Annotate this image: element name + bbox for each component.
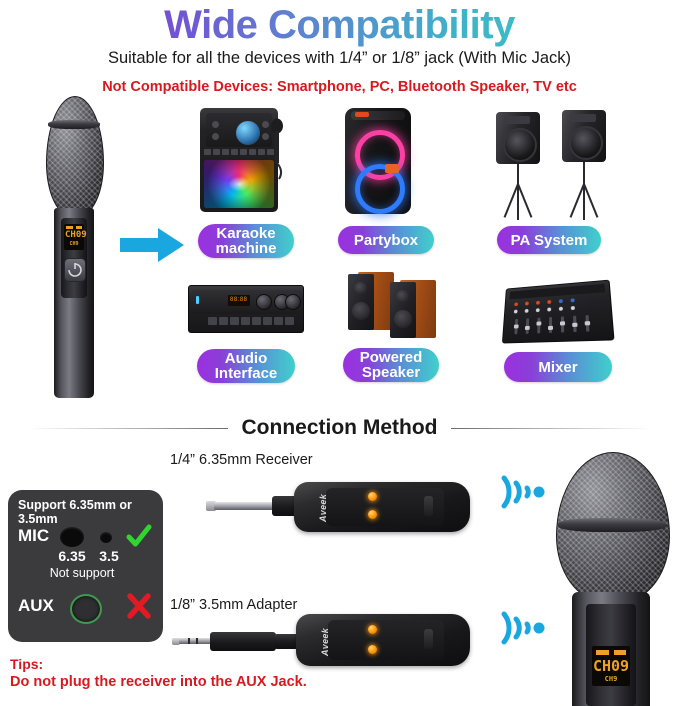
plug-35-ring-2 (196, 638, 198, 644)
lcd-signal-icon (76, 226, 82, 229)
audio-interface-display-text: 88:88 (230, 297, 248, 303)
mic-jack-635-hole (60, 527, 84, 547)
jack-panel-diagram: Support 6.35mm or 3.5mm MIC 6.35 3.5 Not… (8, 490, 163, 642)
partybox-accent (355, 112, 369, 117)
lcd-channel-sub: CH9 (592, 675, 630, 683)
karaoke-light-mask (204, 160, 274, 208)
receiver-side-button[interactable] (424, 629, 433, 649)
jack-mic-label: MIC (18, 526, 49, 546)
compatibility-subtitle: Suitable for all the devices with 1/4” o… (0, 48, 679, 68)
mic-jack-35-hole (100, 532, 112, 543)
lcd-signal-icon (614, 650, 626, 655)
plug-635-shaft (214, 502, 276, 510)
flow-arrow (118, 225, 188, 265)
device-label-pa-system: PA System (497, 226, 601, 254)
jack-size-35-label: 3.5 (94, 548, 124, 564)
lcd-channel-sub: CH9 (65, 241, 83, 247)
wireless-microphone-left: CH09 CH9 (38, 96, 110, 396)
powered-speaker-front-icon (390, 280, 436, 338)
lcd-battery-icon (66, 226, 73, 229)
audio-interface-led (196, 296, 199, 304)
adapter-35-label: 1/8” 3.5mm Adapter (170, 597, 297, 613)
connection-method-header: Connection Method (0, 408, 679, 448)
jack-not-support-text: Not support (32, 566, 132, 580)
jack-support-text: Support 6.35mm or 3.5mm (18, 498, 154, 526)
partybox-logo (385, 164, 399, 173)
mixer-console-icon (502, 280, 615, 344)
device-mixer (494, 278, 614, 344)
device-label-partybox: Partybox (338, 226, 434, 254)
receiver-brand-label: Aveek (318, 494, 328, 522)
lcd-channel-value: CH09 (65, 230, 83, 240)
divider-left (28, 428, 228, 429)
powered-speaker-rear-icon (348, 272, 394, 330)
jack-aux-label: AUX (18, 596, 54, 616)
microphone-band (558, 518, 666, 532)
microphone-grille-icon (46, 96, 104, 216)
karaoke-corded-mic-icon (268, 118, 286, 178)
tips-label: Tips: (10, 656, 43, 672)
plug-35-ring-1 (188, 638, 190, 644)
receiver-635-unit: Aveek (206, 478, 476, 536)
device-label-line2: Interface (215, 366, 278, 381)
aux-jack-hole (70, 594, 102, 624)
device-label-line1: Mixer (538, 360, 577, 375)
device-label-line1: PA System (511, 233, 588, 248)
device-label-mixer: Mixer (504, 352, 612, 382)
device-label-line2: machine (216, 241, 277, 256)
device-powered-speaker (348, 272, 452, 342)
receiver-led-bottom (368, 510, 377, 519)
lcd-battery-icon (596, 650, 609, 655)
karaoke-disc-icon (236, 121, 260, 145)
tips-text: Do not plug the receiver into the AUX Ja… (10, 674, 307, 690)
wireless-microphone-right: CH09 CH9 (538, 452, 679, 706)
speaker-front-baffle (348, 274, 374, 330)
device-label-line1: Karaoke (216, 226, 275, 241)
receiver-635-label: 1/4” 6.35mm Receiver (170, 452, 313, 468)
device-pa-system (492, 108, 618, 218)
speaker-front-baffle (390, 282, 416, 338)
page-title: Wide Compatibility (0, 2, 679, 48)
device-label-line1: Partybox (354, 233, 418, 248)
check-mark-icon (126, 524, 152, 550)
adapter-sleeve (210, 632, 276, 651)
receiver-35-unit: Aveek (172, 612, 472, 670)
receiver-brand-label: Aveek (320, 628, 330, 656)
karaoke-control-top (206, 113, 272, 147)
not-compatible-warning: Not Compatible Devices: Smartphone, PC, … (0, 78, 679, 96)
receiver-led-top (368, 492, 377, 501)
device-audio-interface: 88:88 (188, 285, 304, 333)
microphone-lcd-display: CH09 CH9 (592, 646, 630, 686)
microphone-band (48, 120, 100, 129)
jack-size-635-label: 6.35 (54, 548, 90, 564)
receiver-led-bottom (368, 645, 377, 654)
pa-speaker-right-icon (562, 110, 606, 162)
microphone-lcd-display: CH09 CH9 (64, 224, 84, 250)
karaoke-button-row (204, 149, 274, 157)
pa-speaker-left-icon (496, 112, 540, 164)
device-label-line2: Speaker (362, 365, 420, 380)
connection-method-title: Connection Method (228, 416, 452, 440)
device-label-audio-interface: Audio Interface (197, 349, 295, 383)
divider-right (451, 428, 651, 429)
device-partybox-speaker (345, 108, 411, 214)
arrow-right-icon (118, 225, 188, 265)
device-label-line1: Audio (225, 351, 268, 366)
microphone-power-button[interactable] (64, 258, 86, 282)
power-icon (65, 259, 85, 281)
cross-mark-icon (126, 592, 152, 620)
device-label-line1: Powered (360, 350, 423, 365)
receiver-side-button[interactable] (424, 496, 433, 516)
receiver-led-top (368, 625, 377, 634)
device-label-powered-speaker: Powered Speaker (343, 348, 439, 382)
device-karaoke-machine (196, 108, 288, 212)
lcd-channel-value: CH09 (592, 657, 630, 675)
device-label-karaoke-machine: Karaoke machine (198, 224, 294, 258)
